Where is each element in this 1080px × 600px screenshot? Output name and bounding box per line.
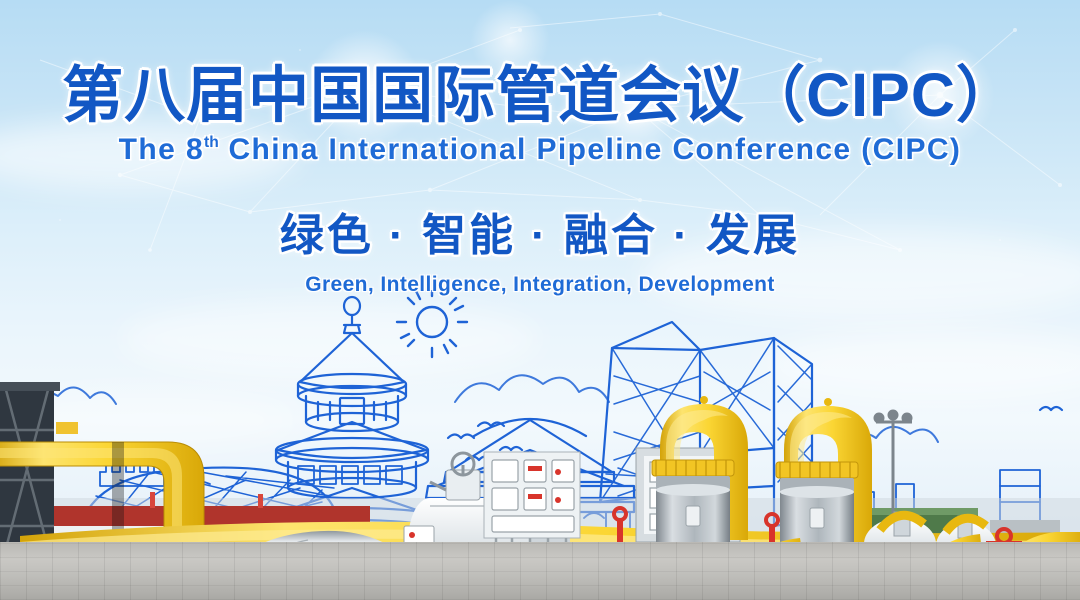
slogan-cn: 绿色 · 智能 · 融合 · 发展 bbox=[0, 199, 1080, 263]
banner-text-block: 第八届中国国际管道会议（CIPC） The 8th China Internat… bbox=[0, 0, 1080, 297]
page-title-en: The 8th China International Pipeline Con… bbox=[0, 133, 1080, 167]
page-title-cn: 第八届中国国际管道会议（CIPC） bbox=[0, 0, 1080, 127]
paved-ground bbox=[0, 542, 1080, 600]
conference-banner: 第八届中国国际管道会议（CIPC） The 8th China Internat… bbox=[0, 0, 1080, 600]
ordinal-suffix: th bbox=[204, 134, 219, 151]
title-en-suffix: China International Pipeline Conference … bbox=[219, 133, 962, 166]
slogan-en: Green, Intelligence, Integration, Develo… bbox=[0, 273, 1080, 297]
valve-actuator bbox=[430, 453, 480, 500]
pipeline-station-photo bbox=[0, 330, 1080, 600]
title-en-prefix: The 8 bbox=[119, 133, 204, 166]
